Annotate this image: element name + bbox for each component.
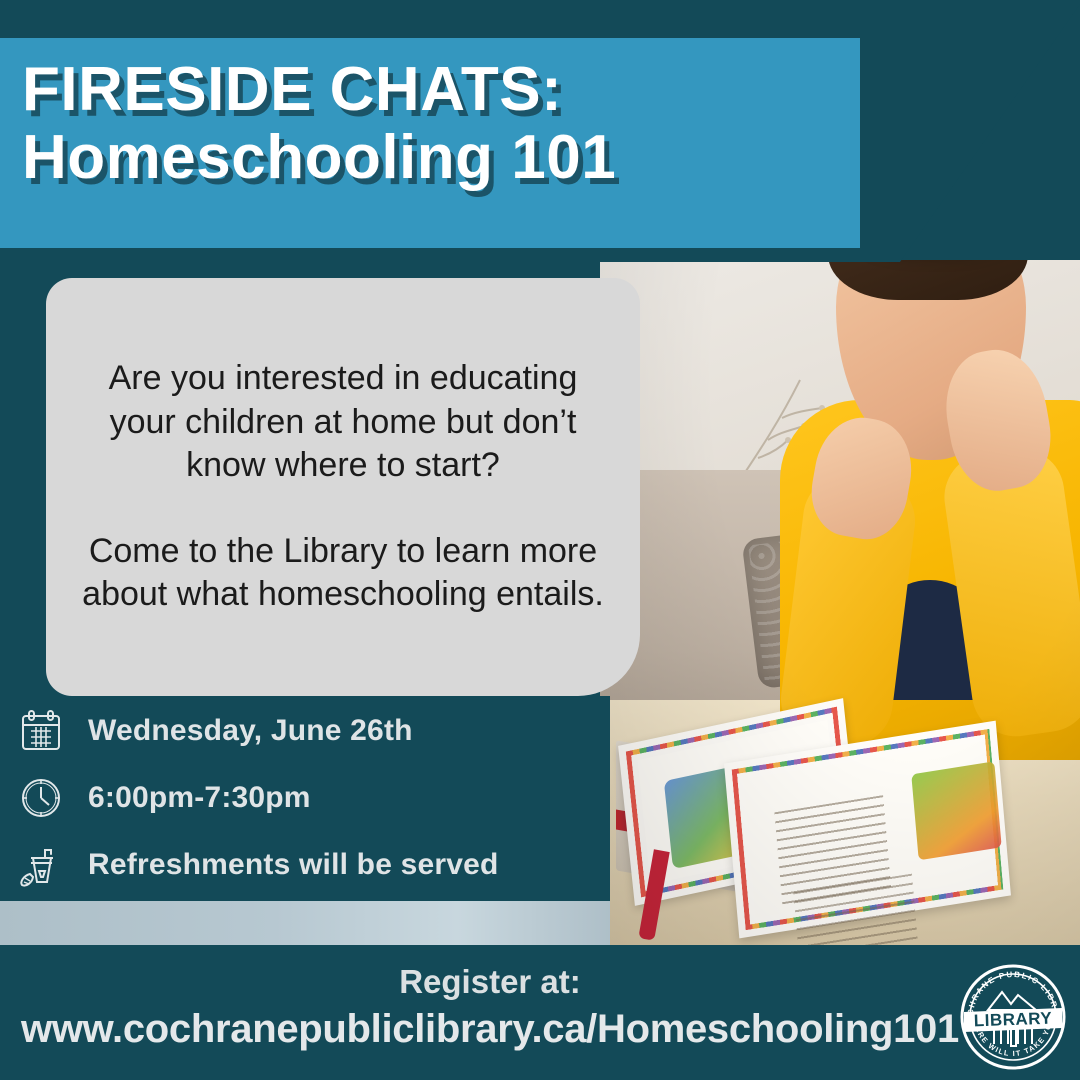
registration-url[interactable]: www.cochranepubliclibrary.ca/Homeschooli… [0,1007,980,1052]
page-title: FIRESIDE CHATS: Homeschooling 101 [22,58,822,191]
logo-banner-text: LIBRARY [973,1009,1052,1031]
description-paragraph-2: Come to the Library to learn more about … [74,530,612,617]
calendar-icon [12,702,70,760]
description-card: Are you interested in educating your chi… [46,278,640,696]
detail-row-date: Wednesday, June 26th [12,702,413,760]
clock-icon [12,769,70,827]
title-line-2: Homeschooling 101 [22,126,822,190]
detail-row-refreshments: Refreshments will be served [12,836,499,894]
logo-mountains-icon [988,992,1036,1010]
detail-text-refreshments: Refreshments will be served [88,848,499,882]
poster-root: FIRESIDE CHATS: Homeschooling 101 Are yo… [0,0,1080,1080]
accent-strip [0,901,610,945]
description-paragraph-1: Are you interested in educating your chi… [74,357,612,488]
detail-text-time: 6:00pm-7:30pm [88,781,311,815]
detail-text-date: Wednesday, June 26th [88,714,413,748]
library-logo: COCHRANE PUBLIC LIBRARY WHERE WILL IT TA… [958,962,1068,1072]
detail-row-time: 6:00pm-7:30pm [12,769,311,827]
register-label: Register at: [0,963,980,1001]
footer: Register at: www.cochranepubliclibrary.c… [0,945,1080,1080]
event-details: Wednesday, June 26th 6:00pm-7:30p [0,696,610,901]
logo-banner: LIBRARY [964,1008,1062,1032]
refreshments-icon [12,836,70,894]
title-line-1: FIRESIDE CHATS: [22,58,822,122]
